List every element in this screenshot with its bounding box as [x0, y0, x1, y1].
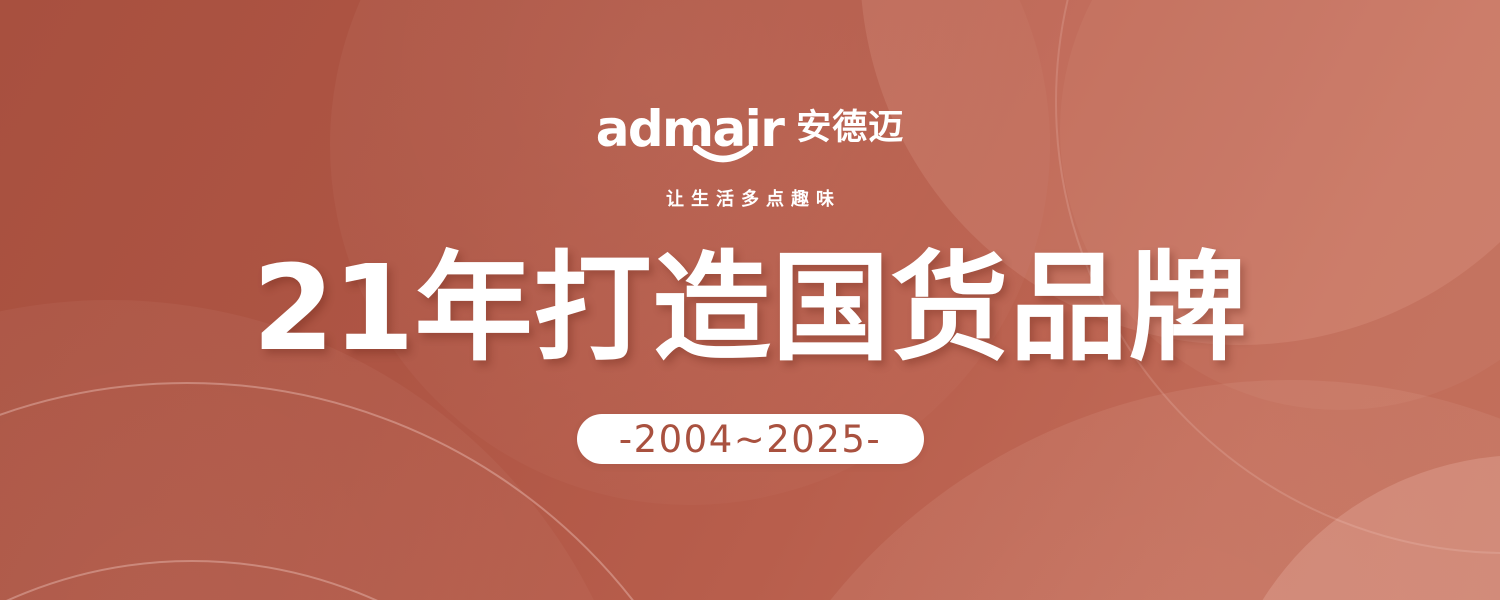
year-badge-row: -2004~2025- [0, 414, 1500, 464]
headline-years-number: 21 [252, 239, 412, 377]
banner-content: admair 安德迈 让生活多点趣味 21年打造国货品牌 -2004~2025- [0, 0, 1500, 600]
brand-anniversary-banner: admair 安德迈 让生活多点趣味 21年打造国货品牌 -2004~2025- [0, 0, 1500, 600]
logo-lockup: admair 安德迈 让生活多点趣味 [0, 104, 1500, 211]
wordmark-text: admair [596, 104, 784, 154]
smile-arc-icon [693, 145, 753, 167]
year-range-badge: -2004~2025- [577, 414, 924, 464]
admair-wordmark: admair [596, 104, 784, 158]
brand-tagline: 让生活多点趣味 [659, 185, 841, 211]
headline-text: 年打造国货品牌 [415, 239, 1248, 377]
brand-name-chinese: 安德迈 [796, 111, 904, 146]
page-headline: 21年打造国货品牌 [0, 245, 1500, 372]
logo-row: admair 安德迈 [596, 104, 905, 158]
